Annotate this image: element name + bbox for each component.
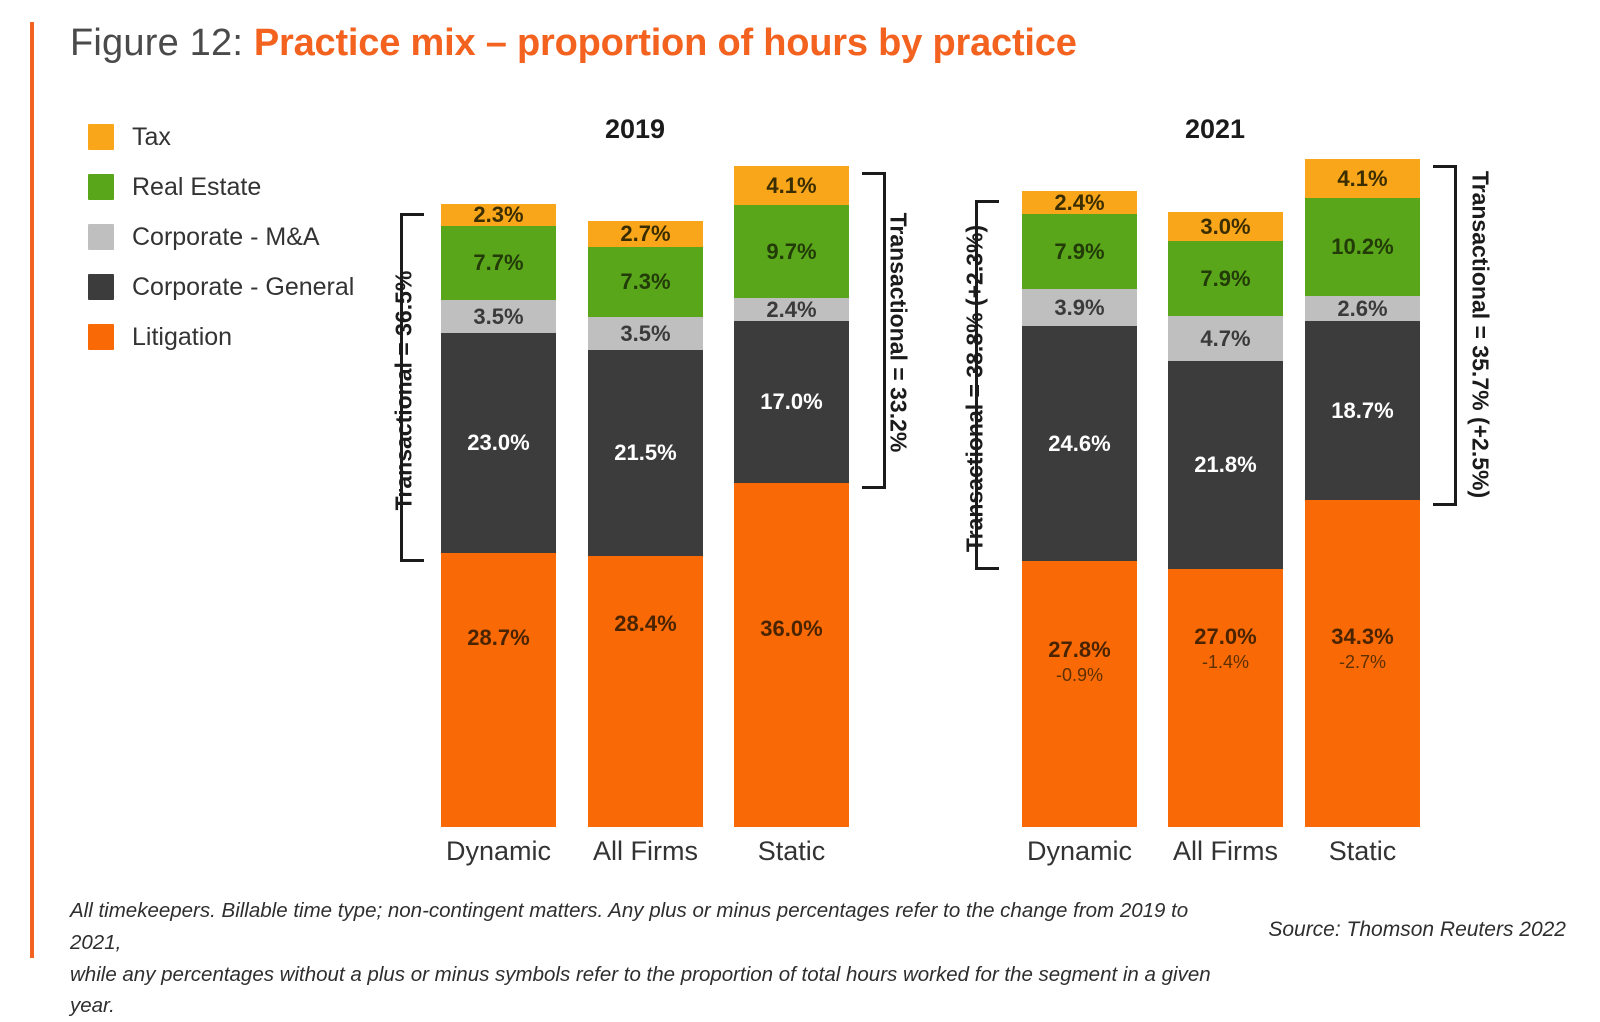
- bracket-tick-bottom: [400, 559, 424, 562]
- bar-segment-litigation[interactable]: 28.4%: [588, 556, 703, 827]
- bar-segment-value: 27.0%: [1194, 626, 1256, 648]
- bar-segment-corporate-general[interactable]: 21.5%: [588, 350, 703, 556]
- category-label-2019-allfirms: All Firms: [573, 836, 718, 867]
- bar-segment-value: 18.7%: [1331, 400, 1393, 422]
- bar-segment-tax[interactable]: 2.3%: [441, 204, 556, 226]
- bar-segment-value: 23.0%: [467, 432, 529, 454]
- bar-segment-delta: -1.4%: [1202, 653, 1249, 672]
- bar-segment-corporate-general[interactable]: 17.0%: [734, 321, 849, 483]
- bracket-line: [1454, 165, 1457, 506]
- bar-segment-litigation[interactable]: 27.8% -0.9%: [1022, 561, 1137, 827]
- transactional-label-2021-static: Transactional = 35.7% (+2.5%): [1467, 135, 1494, 535]
- bar-segment-delta: -0.9%: [1056, 666, 1103, 685]
- bar-segment-delta: -2.7%: [1339, 653, 1386, 672]
- category-label-2019-dynamic: Dynamic: [426, 836, 571, 867]
- bracket-tick-top: [862, 172, 886, 175]
- bar-segment-value: 10.2%: [1331, 236, 1393, 258]
- bar-segment-tax[interactable]: 4.1%: [734, 166, 849, 205]
- bar-segment-value: 9.7%: [766, 241, 816, 263]
- bar-segment-corporate-ma[interactable]: 3.9%: [1022, 289, 1137, 326]
- bracket-tick-top: [400, 213, 424, 216]
- source-label: Source: Thomson Reuters 2022: [1268, 918, 1566, 942]
- bar-segment-real-estate[interactable]: 7.7%: [441, 226, 556, 300]
- bar-segment-value: 7.9%: [1200, 268, 1250, 290]
- transactional-bracket-2021-static: [1433, 165, 1457, 506]
- bar-segment-tax[interactable]: 2.7%: [588, 221, 703, 247]
- bar-segment-value: 7.7%: [473, 252, 523, 274]
- bar-segment-value-group: 34.3% -2.7%: [1331, 626, 1393, 672]
- bar-segment-litigation[interactable]: 27.0% -1.4%: [1168, 569, 1283, 827]
- group-title-2019: 2019: [575, 114, 695, 145]
- bar-segment-tax[interactable]: 2.4%: [1022, 191, 1137, 214]
- bar-segment-real-estate[interactable]: 10.2%: [1305, 198, 1420, 296]
- bar-segment-value: 17.0%: [760, 391, 822, 413]
- footnote: All timekeepers. Billable time type; non…: [70, 895, 1230, 1022]
- bracket-tick-bottom: [862, 486, 886, 489]
- bracket-tick-top: [1433, 165, 1457, 168]
- bar-segment-real-estate[interactable]: 7.3%: [588, 247, 703, 317]
- bar-segment-value: 3.0%: [1200, 216, 1250, 238]
- transactional-label-2021-dynamic: Transactional = 38.8% (+2.3%): [962, 189, 989, 589]
- transactional-label-2019-static: Transactional = 33.2%: [885, 183, 912, 483]
- bar-segment-value: 27.8%: [1048, 639, 1110, 661]
- bar-segment-value: 24.6%: [1048, 433, 1110, 455]
- bar-segment-corporate-general[interactable]: 18.7%: [1305, 321, 1420, 500]
- bar-segment-tax[interactable]: 4.1%: [1305, 159, 1420, 198]
- bar-segment-value: 2.4%: [766, 299, 816, 321]
- bar-2021-static[interactable]: 4.1% 10.2% 2.6% 18.7% 34.3% -2.7%: [1305, 159, 1420, 827]
- bar-segment-value-group: 28.7%: [467, 627, 529, 649]
- bar-segment-value: 2.3%: [473, 204, 523, 226]
- bar-2021-allfirms[interactable]: 3.0% 7.9% 4.7% 21.8% 27.0% -1.4%: [1168, 212, 1283, 827]
- bar-segment-value: 7.3%: [620, 271, 670, 293]
- category-label-2021-static: Static: [1290, 836, 1435, 867]
- bar-segment-value-group: 27.0% -1.4%: [1194, 626, 1256, 672]
- bar-segment-value: 28.7%: [467, 627, 529, 649]
- bar-2019-static[interactable]: 4.1% 9.7% 2.4% 17.0% 36.0%: [734, 166, 849, 827]
- bar-segment-corporate-ma[interactable]: 2.6%: [1305, 296, 1420, 321]
- bar-segment-litigation[interactable]: 36.0%: [734, 483, 849, 827]
- bar-segment-corporate-general[interactable]: 24.6%: [1022, 326, 1137, 561]
- transactional-label-2019-dynamic: Transactional = 36.5%: [391, 241, 418, 541]
- bar-segment-value: 2.4%: [1054, 192, 1104, 214]
- bar-2019-allfirms[interactable]: 2.7% 7.3% 3.5% 21.5% 28.4%: [588, 221, 703, 827]
- bar-segment-corporate-ma[interactable]: 3.5%: [441, 300, 556, 333]
- bar-segment-value-group: 27.8% -0.9%: [1048, 639, 1110, 685]
- bar-segment-value: 36.0%: [760, 618, 822, 640]
- footnote-line-1: All timekeepers. Billable time type; non…: [70, 895, 1230, 959]
- footnote-line-2: while any percentages without a plus or …: [70, 959, 1230, 1022]
- bar-segment-real-estate[interactable]: 7.9%: [1168, 241, 1283, 316]
- bar-segment-value: 4.7%: [1200, 328, 1250, 350]
- bar-segment-real-estate[interactable]: 7.9%: [1022, 214, 1137, 289]
- transactional-bracket-2019-static: [862, 172, 886, 489]
- bar-segment-corporate-ma[interactable]: 4.7%: [1168, 316, 1283, 361]
- bar-segment-litigation[interactable]: 34.3% -2.7%: [1305, 500, 1420, 827]
- bar-segment-value: 2.7%: [620, 223, 670, 245]
- bar-segment-value: 3.5%: [620, 323, 670, 345]
- bar-segment-value-group: 36.0%: [760, 618, 822, 640]
- bar-segment-litigation[interactable]: 28.7%: [441, 553, 556, 827]
- bar-segment-value: 21.8%: [1194, 454, 1256, 476]
- bar-segment-value: 7.9%: [1054, 241, 1104, 263]
- group-title-2021: 2021: [1155, 114, 1275, 145]
- bar-segment-corporate-general[interactable]: 23.0%: [441, 333, 556, 553]
- bar-segment-real-estate[interactable]: 9.7%: [734, 205, 849, 298]
- bar-segment-value: 3.5%: [473, 306, 523, 328]
- bar-segment-value: 34.3%: [1331, 626, 1393, 648]
- bar-segment-corporate-ma[interactable]: 3.5%: [588, 317, 703, 350]
- bar-segment-value: 2.6%: [1337, 298, 1387, 320]
- bar-2021-dynamic[interactable]: 2.4% 7.9% 3.9% 24.6% 27.8% -0.9%: [1022, 191, 1137, 827]
- chart-plot-area: 2019 2021 2.3% 7.7% 3.5% 23.0% 28.7% Dyn…: [0, 0, 1600, 1004]
- bar-segment-value-group: 28.4%: [614, 613, 676, 635]
- category-label-2021-dynamic: Dynamic: [1007, 836, 1152, 867]
- bar-segment-tax[interactable]: 3.0%: [1168, 212, 1283, 241]
- bar-2019-dynamic[interactable]: 2.3% 7.7% 3.5% 23.0% 28.7%: [441, 204, 556, 827]
- bar-segment-value: 3.9%: [1054, 297, 1104, 319]
- bar-segment-value: 4.1%: [1337, 168, 1387, 190]
- bar-segment-value: 4.1%: [766, 175, 816, 197]
- bar-segment-value: 28.4%: [614, 613, 676, 635]
- bar-segment-corporate-general[interactable]: 21.8%: [1168, 361, 1283, 569]
- category-label-2021-allfirms: All Firms: [1153, 836, 1298, 867]
- bar-segment-value: 21.5%: [614, 442, 676, 464]
- category-label-2019-static: Static: [719, 836, 864, 867]
- bar-segment-corporate-ma[interactable]: 2.4%: [734, 298, 849, 321]
- bracket-tick-bottom: [1433, 503, 1457, 506]
